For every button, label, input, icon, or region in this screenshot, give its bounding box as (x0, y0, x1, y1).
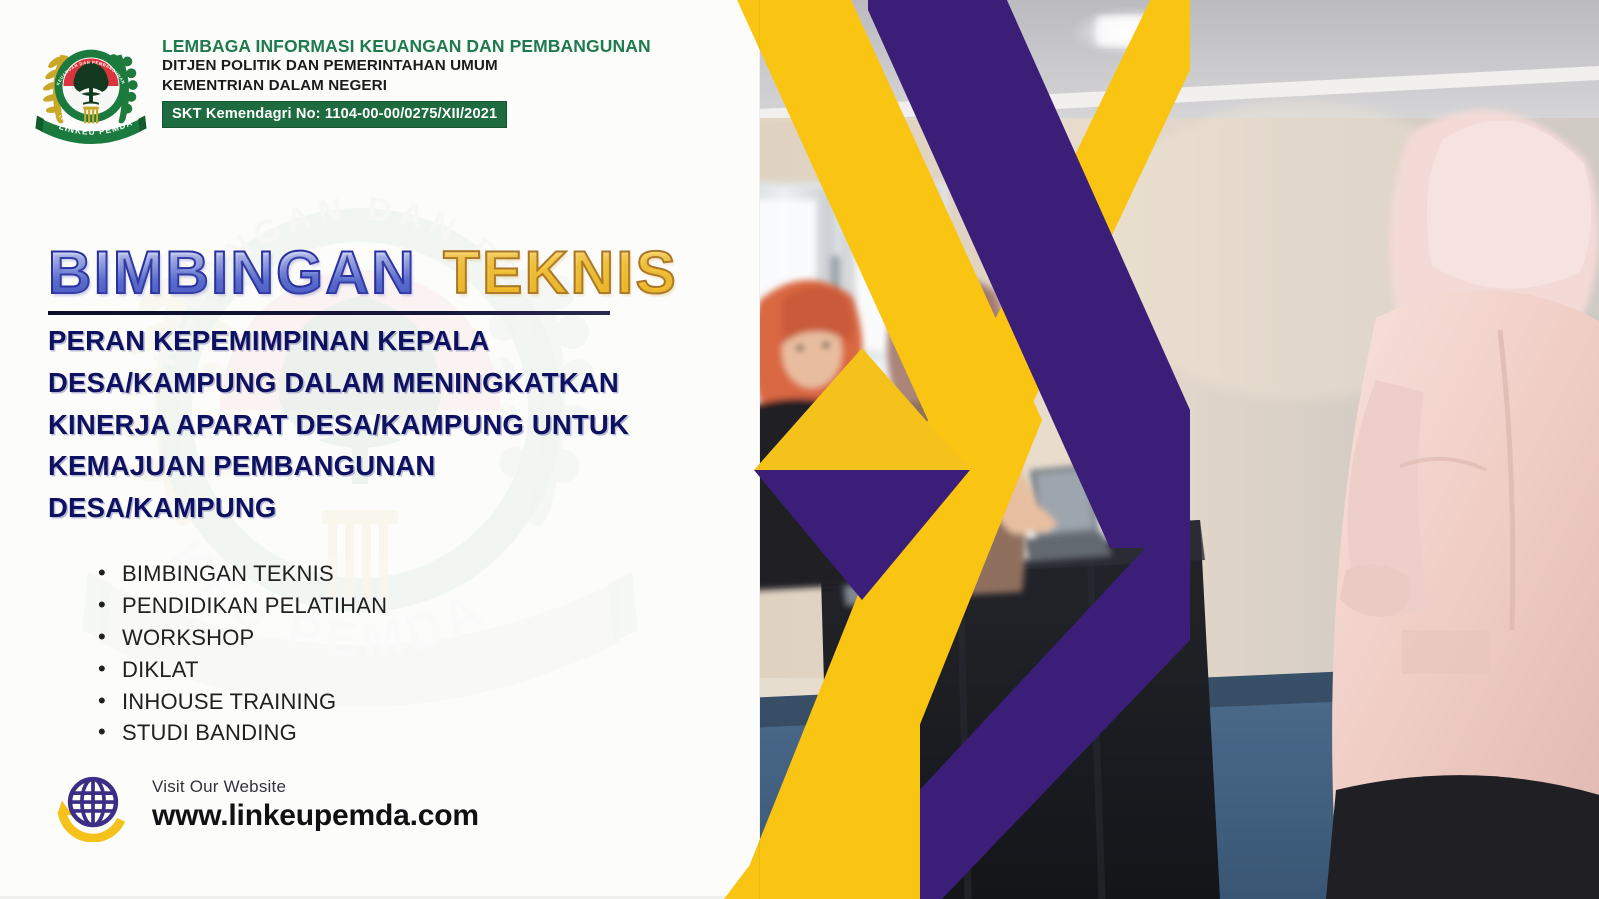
title-word-bimbingan: BIMBINGAN (48, 238, 417, 307)
event-subtitle: PERAN KEPEMIMPINAN KEPALA DESA/KAMPUNG D… (48, 320, 748, 529)
left-content-panel: KEUANGAN DAN PE KEU PEMDA (0, 0, 760, 899)
org-identity-block: LEMBAGA INFORMASI KEUANGAN DAN PEMBANGUN… (162, 28, 651, 128)
services-list: BIMBINGAN TEKNIS PENDIDIKAN PELATIHAN WO… (96, 558, 387, 749)
org-name-line2: DITJEN POLITIK DAN PEMERINTAHAN UMUM (162, 56, 651, 75)
list-item: DIKLAT (96, 654, 387, 686)
list-item: BIMBINGAN TEKNIS (96, 558, 387, 590)
org-name-line3: KEMENTRIAN DALAM NEGERI (162, 76, 651, 95)
list-item: WORKSHOP (96, 622, 387, 654)
poster-canvas: KEUANGAN DAN PE KEU PEMDA (0, 0, 1599, 899)
subtitle-line-4: KEMAJUAN PEMBANGUNAN (48, 445, 748, 487)
linkeu-pemda-logo-icon: KEUANGAN DAN PEMBANGUNAN LEMBAGA INFORMA… (32, 28, 150, 148)
subtitle-line-2: DESA/KAMPUNG DALAM MENINGKATKAN (48, 362, 748, 404)
subtitle-line-5: DESA/KAMPUNG (48, 487, 748, 529)
list-item: INHOUSE TRAINING (96, 686, 387, 718)
main-title-row: BIMBINGAN TEKNIS (48, 238, 708, 307)
subtitle-line-3: KINERJA APARAT DESA/KAMPUNG UNTUK (48, 404, 748, 446)
website-url[interactable]: www.linkeupemda.com (152, 798, 479, 835)
website-footer[interactable]: Visit Our Website www.linkeupemda.com (56, 768, 479, 842)
subtitle-line-1: PERAN KEPEMIMPINAN KEPALA (48, 320, 748, 362)
brand-header: KEUANGAN DAN PEMBANGUNAN LEMBAGA INFORMA… (32, 28, 651, 148)
title-word-teknis: TEKNIS (443, 238, 678, 307)
org-name-line1: LEMBAGA INFORMASI KEUANGAN DAN PEMBANGUN… (162, 36, 651, 56)
list-item: PENDIDIKAN PELATIHAN (96, 590, 387, 622)
globe-icon (56, 768, 130, 842)
skt-registration-badge: SKT Kemendagri No: 1104-00-00/0275/XII/2… (162, 101, 507, 128)
visit-website-label: Visit Our Website (152, 776, 479, 798)
website-text-block: Visit Our Website www.linkeupemda.com (152, 776, 479, 835)
title-underline-rule (48, 311, 610, 315)
panel-divider (759, 0, 760, 899)
seminar-photo (700, 0, 1599, 899)
list-item: STUDI BANDING (96, 717, 387, 749)
main-title-block: BIMBINGAN TEKNIS (48, 238, 708, 315)
